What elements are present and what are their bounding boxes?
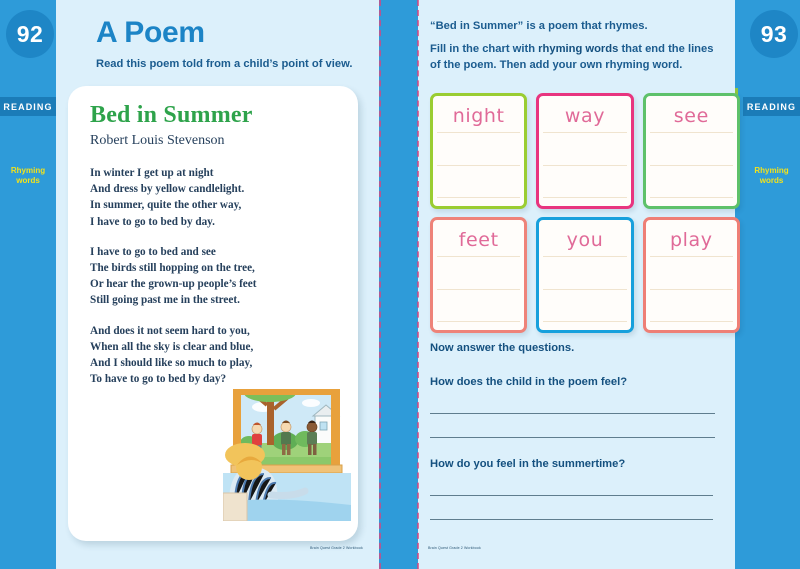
question-1-answer-line-1[interactable] — [430, 413, 715, 414]
writing-rule — [437, 256, 520, 257]
rhyming-word-box[interactable]: feet — [430, 217, 527, 333]
poem-line: To have to go to bed by day? — [90, 371, 340, 387]
instruction-emphasis: rhyming words — [538, 43, 618, 55]
poem-line: And does it not seem hard to you, — [90, 323, 340, 339]
writing-rule — [650, 197, 733, 198]
writing-rule — [543, 197, 626, 198]
poem-line: When all the sky is clear and blue, — [90, 339, 340, 355]
page-number-left: 92 — [6, 10, 54, 58]
poem-title: Bed in Summer — [90, 102, 253, 129]
questions-block: Now answer the questions. How does the c… — [430, 340, 722, 520]
question-1-text: How does the child in the poem feel? — [430, 374, 722, 390]
rhyming-word-box[interactable]: play — [643, 217, 740, 333]
instruction-part-1: Fill in the chart with — [430, 43, 538, 55]
writing-rule — [650, 165, 733, 166]
poem-line: Still going past me in the street. — [90, 292, 340, 308]
writing-rule — [543, 256, 626, 257]
skill-tag-right-line2: words — [743, 176, 800, 186]
spine-dash-left — [379, 0, 381, 569]
page-number-right: 93 — [750, 10, 798, 58]
rhyming-word-box[interactable]: see — [643, 93, 740, 209]
poem-stanza: I have to go to bed and seeThe birds sti… — [90, 244, 340, 309]
poem-body: In winter I get up at nightAnd dress by … — [90, 165, 340, 401]
rhyming-word-box[interactable]: you — [536, 217, 633, 333]
poem-line: And I should like so much to play, — [90, 355, 340, 371]
left-side-rail — [0, 0, 56, 569]
subject-tag-left: READING — [0, 97, 56, 116]
rhyming-word-value: night — [433, 105, 524, 127]
writing-rule — [650, 289, 733, 290]
subject-tag-right: READING — [743, 97, 800, 116]
page-title: A Poem — [96, 16, 205, 50]
writing-rule — [437, 132, 520, 133]
poem-line: In summer, quite the other way, — [90, 197, 340, 213]
rhyming-word-box[interactable]: night — [430, 93, 527, 209]
right-side-rail — [735, 0, 800, 569]
rhyming-word-row: feetyouplay — [430, 217, 740, 333]
poem-line: Or hear the grown-up people’s feet — [90, 276, 340, 292]
poem-illustration — [223, 389, 351, 521]
poem-stanza: In winter I get up at nightAnd dress by … — [90, 165, 340, 230]
poem-stanza: And does it not seem hard to you,When al… — [90, 323, 340, 388]
skill-tag-left-line2: words — [0, 176, 56, 186]
skill-tag-right: Rhyming words — [743, 166, 800, 186]
footer-note-right: Brain Quest Grade 2 Workbook — [428, 546, 481, 550]
poem-line: I have to go to bed by day. — [90, 214, 340, 230]
rhyming-word-value: way — [539, 105, 630, 127]
writing-rule — [437, 197, 520, 198]
writing-rule — [650, 256, 733, 257]
writing-rule — [543, 289, 626, 290]
workbook-spread: 92 READING Rhyming words 93 READING Rhym… — [0, 0, 800, 569]
rhyming-word-value: you — [539, 229, 630, 251]
question-2-answer-line-1[interactable] — [430, 495, 713, 496]
rhyming-word-box[interactable]: way — [536, 93, 633, 209]
writing-rule — [650, 132, 733, 133]
writing-rule — [650, 321, 733, 322]
poem-line: The birds still hopping on the tree, — [90, 260, 340, 276]
illustration-svg — [223, 389, 351, 521]
right-page-lead: “Bed in Summer” is a poem that rhymes. — [430, 18, 715, 34]
poem-line: I have to go to bed and see — [90, 244, 340, 260]
rhyming-word-value: see — [646, 105, 737, 127]
questions-heading: Now answer the questions. — [430, 340, 722, 356]
poem-author: Robert Louis Stevenson — [90, 133, 225, 149]
skill-tag-right-line1: Rhyming — [743, 166, 800, 176]
writing-rule — [543, 132, 626, 133]
right-page-instruction: Fill in the chart with rhyming words tha… — [430, 41, 722, 73]
writing-rule — [437, 165, 520, 166]
poem-card: Bed in Summer Robert Louis Stevenson In … — [68, 86, 358, 541]
question-2-text: How do you feel in the summertime? — [430, 456, 722, 472]
writing-rule — [543, 165, 626, 166]
writing-rule — [437, 321, 520, 322]
spine-dash-right — [417, 0, 419, 569]
rhyming-word-value: feet — [433, 229, 524, 251]
writing-rule — [543, 321, 626, 322]
question-2-answer-line-2[interactable] — [430, 519, 713, 520]
rhyming-word-row: nightwaysee — [430, 93, 740, 209]
writing-rule — [437, 289, 520, 290]
rhyming-word-chart: nightwayseefeetyouplay — [430, 93, 740, 341]
skill-tag-left-line1: Rhyming — [0, 166, 56, 176]
skill-tag-left: Rhyming words — [0, 166, 56, 186]
poem-line: And dress by yellow candlelight. — [90, 181, 340, 197]
footer-note-left: Brain Quest Grade 2 Workbook — [310, 546, 363, 550]
poem-line: In winter I get up at night — [90, 165, 340, 181]
directions-text: Read this poem told from a child’s point… — [96, 57, 366, 72]
rhyming-word-value: play — [646, 229, 737, 251]
